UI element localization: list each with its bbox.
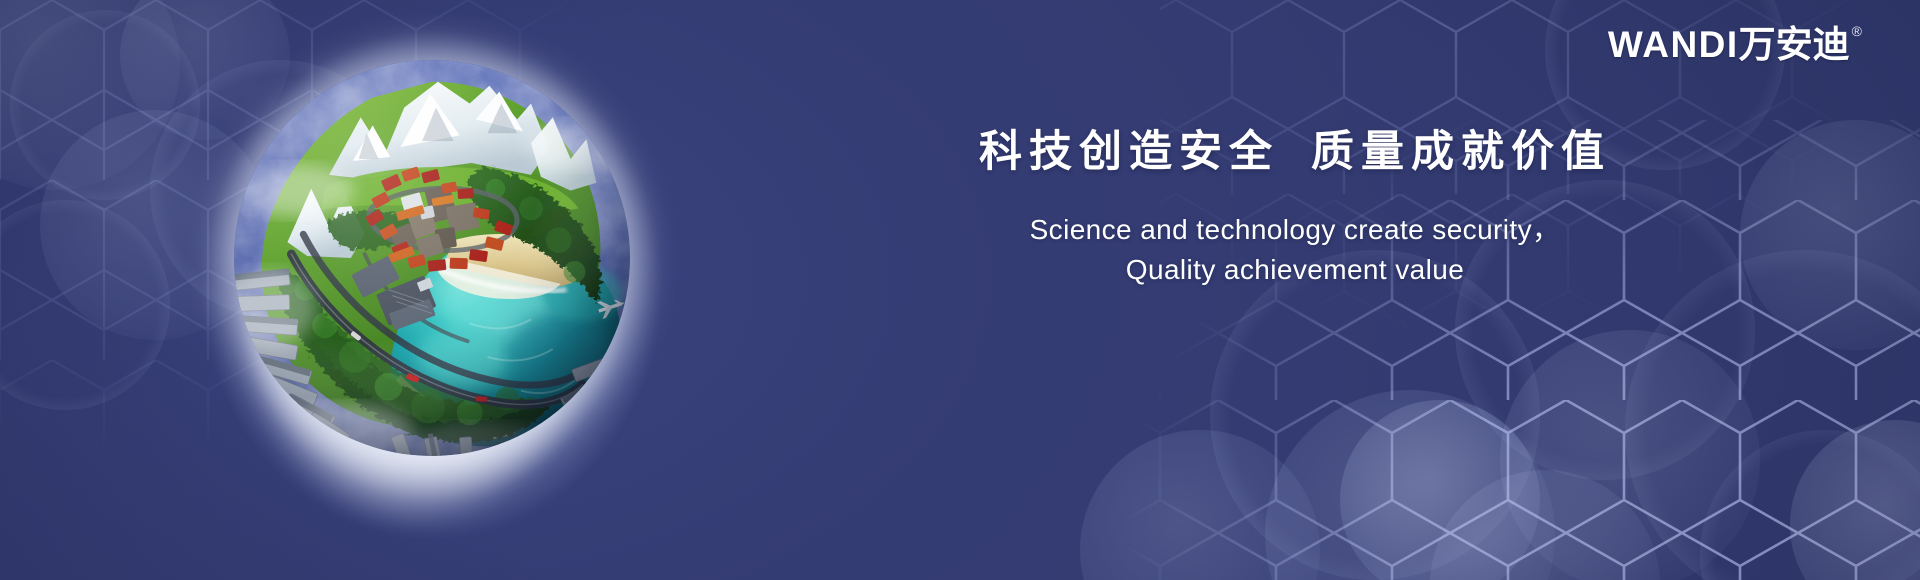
logo-latin-text: WANDI bbox=[1608, 26, 1739, 63]
headline-part-1: 科技创造安全 bbox=[979, 127, 1279, 177]
little-planet-globe bbox=[216, 38, 646, 538]
hero-banner: WANDI 万安迪 ® 科技创造安全质量成就价值 Science and tec… bbox=[0, 0, 1920, 580]
registered-trademark-icon: ® bbox=[1852, 24, 1862, 38]
logo-cjk-text: 万安迪 bbox=[1739, 26, 1850, 63]
subtitle-line-2: Quality achievement value bbox=[895, 250, 1695, 290]
headline: 科技创造安全质量成就价值 bbox=[895, 126, 1695, 180]
subtitle-line-1: Science and technology create security， bbox=[895, 210, 1695, 250]
headline-part-2: 质量成就价值 bbox=[1311, 127, 1611, 177]
slogan-block: 科技创造安全质量成就价值 Science and technology crea… bbox=[895, 126, 1695, 289]
globe-image bbox=[234, 60, 630, 456]
wandi-logo[interactable]: WANDI 万安迪 ® bbox=[1608, 26, 1862, 63]
